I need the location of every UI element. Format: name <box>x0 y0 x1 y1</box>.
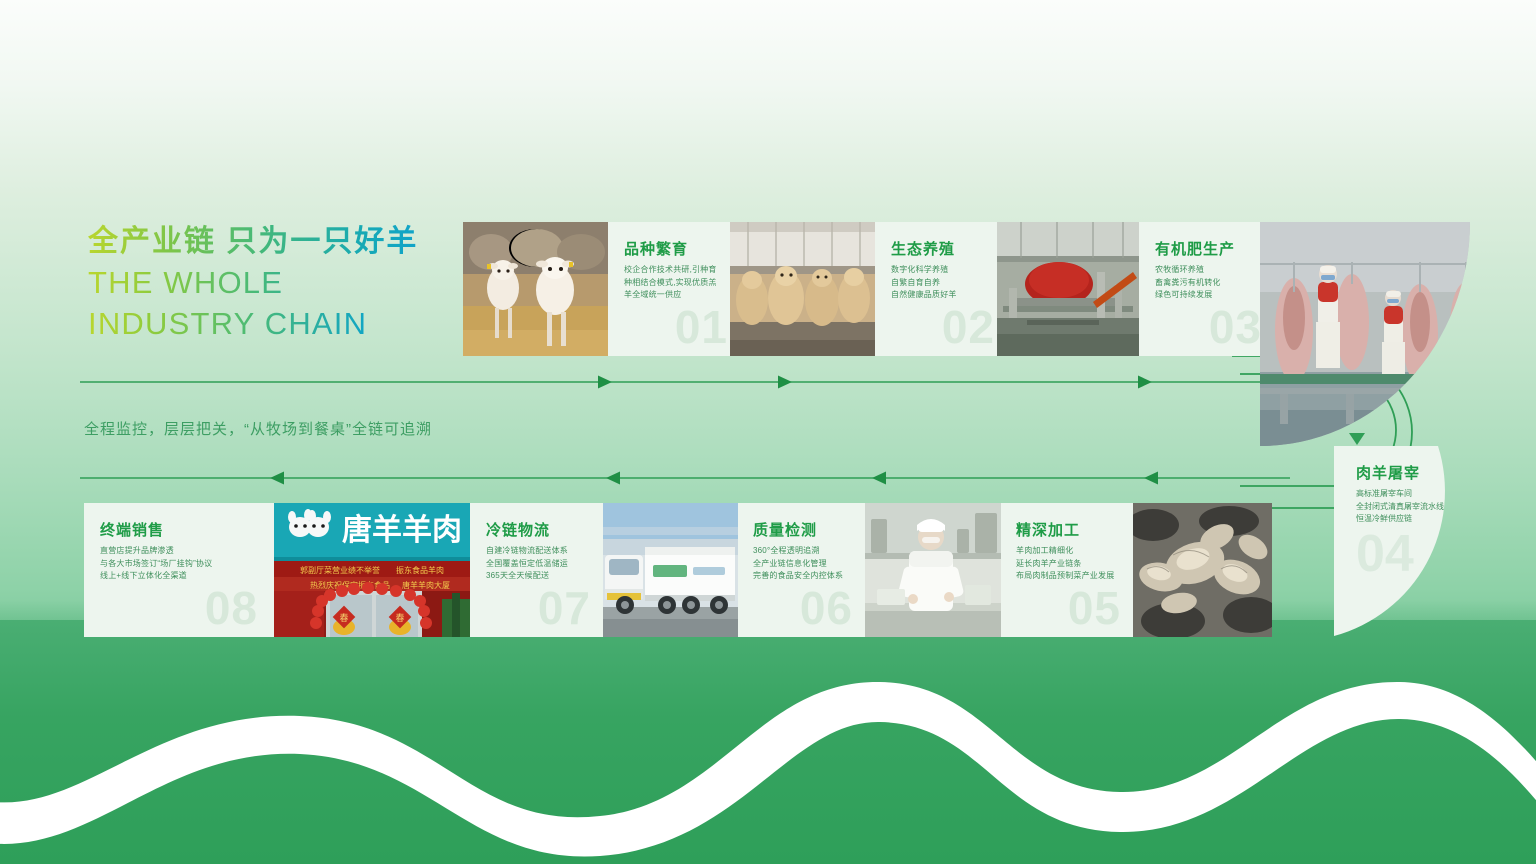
step-text-01: 品种繁育 校企合作技术共研,引种育 种相结合模式,实现优质羔 羊全域统一供应 0… <box>608 222 738 356</box>
svg-text:唐羊羊肉: 唐羊羊肉 <box>342 513 462 547</box>
step-desc-line: 农牧循环养殖 <box>1155 264 1271 277</box>
step-card-01[interactable]: 品种繁育 校企合作技术共研,引种育 种相结合模式,实现优质羔 羊全域统一供应 0… <box>463 222 738 356</box>
step-text-06: 质量检测 360°全程透明追溯 全产业链信息化管理 完善的食品安全内控体系 06 <box>737 503 865 637</box>
flow-line-top <box>80 374 1290 390</box>
flow-arrow-down <box>1346 433 1368 446</box>
step-number-07: 07 <box>538 585 591 631</box>
step-desc-line: 直营店提升品牌渗透 <box>100 545 274 558</box>
step-desc-02: 数字化科学养殖 自繁自育自养 自然健康品质好羊 <box>891 264 1005 302</box>
step-desc-line: 布局肉制品预制菜产业发展 <box>1016 570 1133 583</box>
step-desc-line: 完善的食品安全内控体系 <box>753 570 865 583</box>
step-text-04: 肉羊屠宰 高标准屠宰车间 全封闭式清真屠宰流水线 恒温冷鲜供应链 04 <box>1334 446 1536 636</box>
step-desc-line: 数字化科学养殖 <box>891 264 1005 277</box>
step-desc-08: 直营店提升品牌渗透 与各大市场签订“场厂挂钩”协议 线上+线下立体化全渠道 <box>100 545 274 583</box>
step-desc-line: 羊肉加工精细化 <box>1016 545 1133 558</box>
step-desc-line: 高标准屠宰车间 <box>1356 488 1524 501</box>
step-number-06: 06 <box>800 585 853 631</box>
step-title-06: 质量检测 <box>753 519 817 540</box>
step-desc-03: 农牧循环养殖 畜禽粪污有机转化 绿色可持续发展 <box>1155 264 1271 302</box>
step-photo-03 <box>997 222 1139 356</box>
headline-chinese: 全产业链 只为一只好羊 <box>88 224 468 260</box>
infographic-canvas: 全产业链 只为一只好羊 THE WHOLE INDUSTRY CHAIN 全程监… <box>0 0 1536 864</box>
step-title-03: 有机肥生产 <box>1155 238 1235 259</box>
step-title-02: 生态养殖 <box>891 238 955 259</box>
step-text-08: 终端销售 直营店提升品牌渗透 与各大市场签订“场厂挂钩”协议 线上+线下立体化全… <box>84 503 274 637</box>
step-card-08[interactable]: 终端销售 直营店提升品牌渗透 与各大市场签订“场厂挂钩”协议 线上+线下立体化全… <box>84 503 470 637</box>
step-photo-01 <box>463 222 608 356</box>
step-photo-04 <box>1260 222 1536 446</box>
step-desc-line: 自然健康品质好羊 <box>891 289 1005 302</box>
step-title-01: 品种繁育 <box>624 238 688 259</box>
step-number-03: 03 <box>1209 304 1262 350</box>
step-desc-line: 360°全程透明追溯 <box>753 545 865 558</box>
step-text-05: 精深加工 羊肉加工精细化 延长肉羊产业链条 布局肉制品预制菜产业发展 05 <box>1000 503 1133 637</box>
svg-text:春: 春 <box>395 612 404 623</box>
step-card-07[interactable]: 冷链物流 自建冷链物流配送体系 全国覆盖恒定低温储运 365天全天候配送 07 <box>470 503 738 637</box>
step-text-03: 有机肥生产 农牧循环养殖 畜禽粪污有机转化 绿色可持续发展 03 <box>1139 222 1272 356</box>
headline-block: 全产业链 只为一只好羊 THE WHOLE INDUSTRY CHAIN <box>88 224 468 342</box>
step-photo-08: 唐羊羊肉 郭副厅菜营业绩不举誉 振东食品羊肉 热烈庆祝保定振东食品 唐羊羊肉大厦 <box>274 503 470 637</box>
svg-text:振东食品羊肉: 振东食品羊肉 <box>396 565 444 575</box>
step-title-05: 精深加工 <box>1016 519 1080 540</box>
step-desc-line: 自建冷链物流配送体系 <box>486 545 603 558</box>
step-desc-line: 绿色可持续发展 <box>1155 289 1271 302</box>
step-photo-06 <box>865 503 1001 637</box>
step-desc-line: 全封闭式清真屠宰流水线 <box>1356 501 1524 514</box>
step-desc-line: 种相结合模式,实现优质羔 <box>624 277 738 290</box>
step-desc-line: 羊全域统一供应 <box>624 289 738 302</box>
step-text-07: 冷链物流 自建冷链物流配送体系 全国覆盖恒定低温储运 365天全天候配送 07 <box>470 503 603 637</box>
step-desc-line: 校企合作技术共研,引种育 <box>624 264 738 277</box>
step-title-08: 终端销售 <box>100 519 164 540</box>
step-desc-04: 高标准屠宰车间 全封闭式清真屠宰流水线 恒温冷鲜供应链 <box>1356 488 1524 526</box>
step-desc-line: 线上+线下立体化全渠道 <box>100 570 274 583</box>
headline-english-line1: THE WHOLE <box>88 264 468 301</box>
step-title-07: 冷链物流 <box>486 519 550 540</box>
step-desc-06: 360°全程透明追溯 全产业链信息化管理 完善的食品安全内控体系 <box>753 545 865 583</box>
wave-ribbon <box>0 620 1536 864</box>
step-card-05[interactable]: 精深加工 羊肉加工精细化 延长肉羊产业链条 布局肉制品预制菜产业发展 05 <box>1000 503 1272 637</box>
step-desc-05: 羊肉加工精细化 延长肉羊产业链条 布局肉制品预制菜产业发展 <box>1016 545 1133 583</box>
step-number-04: 04 <box>1356 528 1414 580</box>
headline-english-line2: INDUSTRY CHAIN <box>88 305 468 342</box>
step-number-05: 05 <box>1068 585 1121 631</box>
svg-text:唐羊羊肉大厦: 唐羊羊肉大厦 <box>402 580 450 590</box>
svg-text:春: 春 <box>339 612 348 623</box>
step-photo-05 <box>1133 503 1272 637</box>
step-desc-line: 与各大市场签订“场厂挂钩”协议 <box>100 558 274 571</box>
flow-line-bottom <box>80 470 1290 486</box>
step-desc-line: 全国覆盖恒定低温储运 <box>486 558 603 571</box>
step-number-01: 01 <box>675 304 728 350</box>
step-photo-02 <box>730 222 875 356</box>
step-number-02: 02 <box>942 304 995 350</box>
step-photo-07 <box>603 503 738 637</box>
step-number-08: 08 <box>205 585 258 631</box>
step-desc-line: 延长肉羊产业链条 <box>1016 558 1133 571</box>
svg-text:郭副厅菜营业绩不举誉: 郭副厅菜营业绩不举誉 <box>300 565 380 575</box>
step-text-02: 生态养殖 数字化科学养殖 自繁自育自养 自然健康品质好羊 02 <box>875 222 1005 356</box>
step-title-04: 肉羊屠宰 <box>1356 462 1420 483</box>
step-desc-line: 365天全天候配送 <box>486 570 603 583</box>
step-desc-01: 校企合作技术共研,引种育 种相结合模式,实现优质羔 羊全域统一供应 <box>624 264 738 302</box>
step-desc-line: 全产业链信息化管理 <box>753 558 865 571</box>
step-card-02[interactable]: 生态养殖 数字化科学养殖 自繁自育自养 自然健康品质好羊 02 <box>730 222 1005 356</box>
step-card-03[interactable]: 有机肥生产 农牧循环养殖 畜禽粪污有机转化 绿色可持续发展 03 <box>997 222 1272 356</box>
step-desc-line: 畜禽粪污有机转化 <box>1155 277 1271 290</box>
step-card-06[interactable]: 质量检测 360°全程透明追溯 全产业链信息化管理 完善的食品安全内控体系 06 <box>737 503 1001 637</box>
step-desc-line: 恒温冷鲜供应链 <box>1356 513 1524 526</box>
tagline-text: 全程监控，层层把关，“从牧场到餐桌”全链可追溯 <box>84 418 432 439</box>
step-desc-07: 自建冷链物流配送体系 全国覆盖恒定低温储运 365天全天候配送 <box>486 545 603 583</box>
step-desc-line: 自繁自育自养 <box>891 277 1005 290</box>
